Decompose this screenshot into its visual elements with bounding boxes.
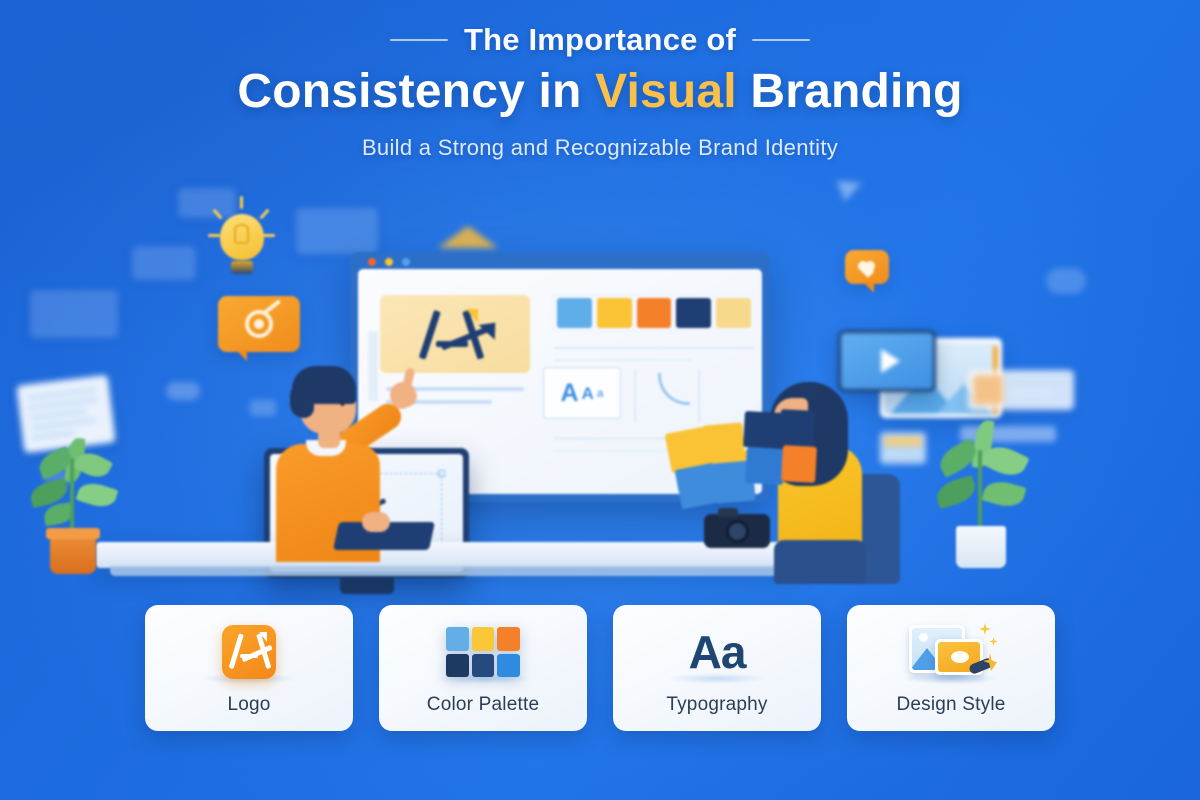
eyebrow-text: The Importance of [464, 22, 736, 58]
decor-accent-shape [438, 226, 498, 248]
type-sample-small: a [597, 387, 604, 399]
hero-illustration: A A a [0, 170, 1200, 610]
card-logo[interactable]: Logo [145, 605, 353, 731]
card-label-typography: Typography [666, 694, 767, 716]
plant-pot-white [956, 526, 1006, 568]
card-label-design-style: Design Style [896, 694, 1005, 716]
person-left-hair-back [290, 382, 314, 418]
fan-swatch-8 [781, 445, 817, 483]
browser-traffic-lights [368, 258, 410, 266]
browser-dot-maximize [402, 258, 410, 266]
logo-tile-icon [145, 616, 353, 688]
sparkle-icon-1 [979, 623, 991, 635]
page-guide-1 [554, 347, 754, 349]
browser-dot-minimize [385, 258, 393, 266]
card-typography[interactable]: Aa Typography [613, 605, 821, 731]
page-subtitle: Build a Strong and Recognizable Brand Id… [0, 135, 1200, 161]
type-sample-medium: A [582, 385, 594, 402]
person-left-eye [340, 400, 345, 406]
plant-right [930, 420, 1030, 570]
color-fan [668, 408, 794, 512]
palette-grid [446, 627, 520, 677]
page-title: Consistency in Visual Branding [0, 64, 1200, 119]
palette-swatch-bottom-3 [497, 654, 520, 678]
fan-swatch-6 [779, 409, 815, 447]
type-sample-large: A [560, 381, 578, 406]
cloud-icon-right [1046, 268, 1086, 294]
swatch-navy [676, 298, 711, 328]
leaf [981, 477, 1026, 511]
plant-left [28, 438, 120, 578]
design-style-icon [847, 616, 1055, 688]
header: The Importance of Consistency in Visual … [0, 0, 1200, 185]
eyebrow-row: The Importance of [0, 22, 1200, 58]
logo-tile [222, 625, 276, 679]
monitor-stand [340, 578, 394, 594]
fan-swatch-2 [702, 422, 745, 465]
color-swatch-strip [551, 293, 757, 333]
palette-swatch-bottom-2 [472, 654, 495, 678]
palette-swatch-top-3 [497, 627, 520, 651]
swatch-sand [716, 298, 751, 328]
card-design-style[interactable]: Design Style [847, 605, 1055, 731]
fan-swatch-5 [743, 411, 783, 449]
page-line-5 [554, 449, 674, 452]
palette-swatch-bottom-1 [446, 654, 469, 678]
person-left-hand-2 [362, 512, 390, 532]
ghost-card-3 [296, 208, 378, 254]
a-mark-logo-icon-card [232, 633, 270, 671]
card-label-logo: Logo [227, 694, 270, 716]
typography-sample: Aa [689, 629, 746, 675]
card-color-palette[interactable]: Color Palette [379, 605, 587, 731]
camera-icon [694, 506, 778, 548]
icon-shadow [669, 673, 765, 684]
typography-preview-box: A A a [543, 367, 621, 419]
leaf [76, 479, 119, 512]
cloud-icon [166, 382, 200, 400]
person-right-pants [774, 540, 866, 584]
browser-dot-close [368, 258, 376, 266]
eyebrow-dash-left [390, 39, 448, 41]
person-left [262, 348, 452, 568]
sparkle-icon-2 [989, 637, 998, 646]
leaf [933, 475, 978, 509]
swatch-orange [637, 298, 672, 328]
feature-cards: Logo Color Palette Aa [145, 605, 1055, 731]
lightbulb-icon [212, 198, 272, 276]
curve-guide [658, 373, 690, 405]
heart-bubble-icon [845, 250, 889, 284]
page-guide-3 [634, 369, 636, 423]
card-label-color-palette: Color Palette [427, 694, 539, 716]
headline-part-2: Branding [737, 65, 963, 118]
play-triangle-icon [881, 349, 900, 373]
fan-swatch-7 [745, 447, 785, 485]
headline-accent-word: Visual [595, 65, 737, 118]
swatch-yellow [597, 298, 632, 328]
eyebrow-dash-right [752, 39, 810, 41]
headline-part-1: Consistency in [237, 65, 595, 118]
banner-stage: The Importance of Consistency in Visual … [0, 0, 1200, 800]
list-card-icon [968, 370, 1074, 410]
palette-swatch-top-2 [472, 627, 495, 651]
palette-grid-icon [379, 616, 587, 688]
ghost-card-1 [30, 290, 118, 338]
chat-bubble-icon [218, 296, 300, 352]
swatch-blue [557, 298, 592, 328]
page-guide-2 [554, 359, 694, 361]
aa-glyph-icon: Aa [613, 616, 821, 688]
ghost-card-2 [132, 246, 196, 280]
palette-swatch-top-1 [446, 627, 469, 651]
